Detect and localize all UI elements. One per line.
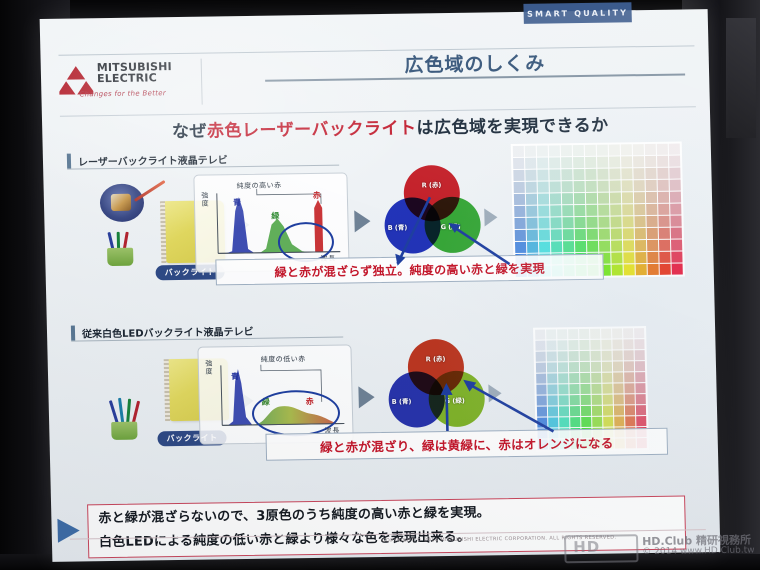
gamut-swatch	[601, 340, 611, 350]
gamut-swatch	[610, 204, 621, 215]
gamut-swatch	[573, 169, 584, 180]
gamut-swatch	[550, 181, 561, 192]
gamut-swatch	[514, 206, 525, 217]
gamut-swatch	[574, 193, 585, 204]
gamut-swatch	[646, 192, 657, 203]
gamut-swatch	[635, 252, 646, 263]
gamut-swatch	[614, 405, 624, 415]
venn-label-blue-laser: B (青)	[388, 222, 408, 232]
gamut-swatch	[614, 416, 624, 426]
gamut-swatch	[586, 205, 597, 216]
gamut-swatch	[550, 205, 561, 216]
gamut-swatch	[535, 341, 545, 351]
gamut-swatch	[586, 181, 597, 192]
gamut-swatch	[613, 372, 623, 382]
gamut-swatch	[670, 192, 681, 203]
gamut-swatch	[658, 204, 669, 215]
gamut-swatch	[612, 328, 622, 338]
gamut-swatch	[634, 339, 644, 349]
gamut-swatch	[550, 217, 561, 228]
gamut-swatch	[527, 242, 538, 253]
gamut-swatch	[624, 383, 634, 393]
gamut-swatch	[598, 217, 609, 228]
gamut-swatch	[591, 351, 601, 361]
gamut-swatch	[569, 384, 579, 394]
gamut-swatch	[646, 216, 657, 227]
gamut-swatch	[598, 205, 609, 216]
gamut-swatch	[546, 340, 556, 350]
gamut-swatch	[575, 229, 586, 240]
gamut-swatch	[599, 241, 610, 252]
gamut-swatch	[539, 229, 550, 240]
venn-label-blue-led: B (青)	[392, 396, 412, 406]
gamut-swatch	[574, 181, 585, 192]
gamut-swatch	[634, 180, 645, 191]
gamut-swatch	[562, 181, 573, 192]
gamut-swatch	[659, 240, 670, 251]
gamut-swatch	[539, 241, 550, 252]
gamut-swatch	[592, 406, 602, 416]
gamut-swatch	[591, 384, 601, 394]
gamut-swatch	[597, 157, 608, 168]
gamut-swatch	[569, 362, 579, 372]
gamut-swatch	[625, 405, 635, 415]
gamut-swatch	[585, 169, 596, 180]
gamut-swatch	[549, 145, 560, 156]
gamut-swatch	[561, 145, 572, 156]
gamut-swatch	[513, 146, 524, 157]
rgb-venn-led: R (赤) B (青) G (緑)	[387, 338, 485, 431]
gamut-swatch	[587, 241, 598, 252]
gamut-swatch	[526, 218, 537, 229]
gamut-swatch	[611, 252, 622, 263]
gamut-swatch	[645, 144, 656, 155]
gamut-swatch	[597, 145, 608, 156]
gamut-swatch	[613, 383, 623, 393]
flow-arrow-2	[354, 210, 371, 232]
gamut-swatch	[597, 169, 608, 180]
gamut-swatch	[569, 373, 579, 383]
gamut-swatch	[581, 406, 591, 416]
gamut-swatch	[580, 373, 590, 383]
gamut-swatch	[568, 340, 578, 350]
gamut-swatch	[574, 205, 585, 216]
gamut-swatch	[546, 329, 556, 339]
gamut-swatch	[526, 182, 537, 193]
gamut-swatch	[569, 351, 579, 361]
gamut-swatch	[658, 180, 669, 191]
gamut-swatch	[525, 146, 536, 157]
slide-subtitle: なぜ赤色レーザーバックライトは広色域を実現できるか	[130, 110, 651, 143]
gamut-swatch	[603, 406, 613, 416]
gamut-swatch	[525, 170, 536, 181]
gamut-swatch	[580, 384, 590, 394]
gamut-swatch	[557, 340, 567, 350]
subtitle-highlight: 赤色レーザーバックライト	[207, 118, 417, 141]
gamut-swatch	[535, 330, 545, 340]
gamut-swatch	[613, 350, 623, 360]
gamut-swatch	[634, 204, 645, 215]
gamut-swatch	[586, 217, 597, 228]
peak-label-green-laser: 緑	[271, 210, 279, 221]
gamut-swatch	[610, 192, 621, 203]
gamut-swatch	[525, 158, 536, 169]
gamut-swatch	[548, 417, 558, 427]
gamut-swatch	[586, 193, 597, 204]
gamut-swatch	[590, 329, 600, 339]
gamut-swatch	[570, 406, 580, 416]
gamut-swatch	[537, 157, 548, 168]
gamut-swatch	[671, 228, 682, 239]
gamut-swatch	[648, 264, 659, 275]
gamut-swatch	[581, 417, 591, 427]
gamut-swatch	[514, 194, 525, 205]
color-pencils-icon-led	[108, 393, 153, 440]
gamut-swatch	[611, 240, 622, 251]
hdclub-logo-icon: HD	[564, 534, 639, 563]
gamut-swatch	[645, 168, 656, 179]
gamut-swatch	[548, 395, 558, 405]
gamut-swatch	[549, 157, 560, 168]
page-title: 広色域のしくみ	[264, 45, 685, 81]
gamut-swatch	[625, 394, 635, 404]
gamut-swatch	[670, 204, 681, 215]
gamut-swatch	[602, 362, 612, 372]
gamut-swatch	[602, 351, 612, 361]
gamut-swatch	[636, 405, 646, 415]
gamut-swatch	[671, 240, 682, 251]
gamut-swatch	[580, 362, 590, 372]
gamut-swatch	[647, 252, 658, 263]
gamut-swatch	[526, 194, 537, 205]
gamut-swatch	[537, 396, 547, 406]
gamut-swatch	[562, 217, 573, 228]
gamut-swatch	[614, 394, 624, 404]
gamut-swatch	[562, 205, 573, 216]
gamut-swatch	[658, 192, 669, 203]
gamut-swatch	[585, 145, 596, 156]
smart-quality-banner: SMART QUALITY	[523, 2, 631, 24]
gamut-swatch	[558, 373, 568, 383]
gamut-swatch	[634, 328, 644, 338]
gamut-swatch	[551, 229, 562, 240]
gamut-swatch	[610, 180, 621, 191]
pencil-cup	[107, 248, 133, 266]
gamut-swatch	[538, 217, 549, 228]
spectrum-chart-led: 強度 純度の低い赤 青 緑 赤	[197, 344, 353, 444]
gamut-swatch	[646, 180, 657, 191]
gamut-swatch	[671, 252, 682, 263]
door-panel	[726, 18, 756, 138]
gamut-swatch	[657, 156, 668, 167]
gamut-swatch	[550, 193, 561, 204]
rgb-venn-laser: R (赤) B (青) G (緑)	[383, 165, 481, 258]
gamut-swatch	[635, 372, 645, 382]
gamut-swatch	[623, 252, 634, 263]
gamut-swatch	[536, 363, 546, 373]
gamut-swatch	[621, 144, 632, 155]
gamut-swatch	[585, 157, 596, 168]
gamut-swatch	[538, 181, 549, 192]
gamut-swatch	[636, 416, 646, 426]
gamut-swatch	[549, 169, 560, 180]
gamut-swatch	[547, 351, 557, 361]
gamut-swatch	[537, 169, 548, 180]
gamut-swatch	[514, 218, 525, 229]
gamut-swatch	[558, 384, 568, 394]
gamut-swatch	[574, 217, 585, 228]
gamut-swatch	[559, 395, 569, 405]
gamut-swatch	[561, 157, 572, 168]
gamut-swatch	[527, 230, 538, 241]
gamut-swatch	[514, 182, 525, 193]
gamut-swatch	[624, 361, 634, 371]
gamut-swatch	[634, 216, 645, 227]
gamut-swatch	[623, 228, 634, 239]
logo-wordmark: MITSUBISHI ELECTRIC	[97, 61, 173, 84]
gamut-swatch	[538, 193, 549, 204]
gamut-swatch	[573, 157, 584, 168]
gamut-swatch	[579, 340, 589, 350]
gamut-swatch	[573, 145, 584, 156]
gamut-swatch	[592, 395, 602, 405]
gamut-swatch	[659, 252, 670, 263]
gamut-swatch	[623, 240, 634, 251]
pencil-cup-led	[111, 422, 137, 440]
gamut-swatch	[561, 169, 572, 180]
gamut-swatch	[547, 384, 557, 394]
gamut-swatch	[635, 228, 646, 239]
gamut-swatch	[559, 417, 569, 427]
gamut-swatch	[672, 264, 683, 275]
gamut-swatch	[635, 350, 645, 360]
gamut-swatch	[570, 417, 580, 427]
gamut-swatch	[657, 144, 668, 155]
gamut-swatch	[563, 241, 574, 252]
gamut-swatch	[621, 168, 632, 179]
gamut-swatch	[513, 158, 524, 169]
gamut-swatch	[598, 181, 609, 192]
gamut-swatch	[621, 156, 632, 167]
gamut-swatch	[587, 229, 598, 240]
gamut-swatch	[602, 373, 612, 383]
gamut-swatch	[636, 264, 647, 275]
gamut-swatch	[646, 204, 657, 215]
gamut-swatch	[537, 418, 547, 428]
gamut-swatch	[624, 264, 635, 275]
gamut-swatch	[635, 383, 645, 393]
gamut-swatch	[557, 329, 567, 339]
projector-room-photo: SMART QUALITY MITSUBISHI ELECTRIC Change…	[0, 0, 760, 570]
gamut-swatch	[633, 168, 644, 179]
gamut-swatch	[670, 216, 681, 227]
gamut-swatch	[591, 373, 601, 383]
gamut-swatch	[513, 170, 524, 181]
peak-label-blue-laser: 青	[233, 197, 241, 208]
gamut-swatch	[592, 417, 602, 427]
gamut-swatch	[603, 417, 613, 427]
gamut-swatch	[613, 361, 623, 371]
subtitle-part-1: なぜ	[172, 122, 207, 143]
gamut-swatch	[580, 351, 590, 361]
gamut-swatch	[591, 362, 601, 372]
flow-arrow-6	[488, 384, 501, 402]
gamut-swatch	[625, 416, 635, 426]
gamut-swatch	[622, 216, 633, 227]
gamut-swatch	[558, 362, 568, 372]
peak-label-blue-led: 青	[231, 371, 239, 382]
gamut-swatch	[633, 144, 644, 155]
gamut-swatch	[609, 156, 620, 167]
gamut-swatch	[536, 385, 546, 395]
logo-tagline: Changes for the Better	[79, 89, 166, 98]
gamut-swatch	[515, 242, 526, 253]
projected-slide: SMART QUALITY MITSUBISHI ELECTRIC Change…	[40, 9, 721, 562]
gamut-swatch	[670, 180, 681, 191]
gamut-swatch	[609, 168, 620, 179]
gamut-swatch	[636, 394, 646, 404]
color-pencils-icon	[105, 232, 136, 266]
gamut-swatch	[657, 168, 668, 179]
gamut-swatch	[579, 329, 589, 339]
gamut-swatch	[612, 339, 622, 349]
gamut-swatch	[645, 156, 656, 167]
logo-line-2: ELECTRIC	[97, 71, 157, 85]
flow-arrow-5	[358, 386, 375, 408]
venn-label-red-led: R (赤)	[426, 353, 446, 363]
gamut-swatch	[634, 192, 645, 203]
gamut-swatch	[575, 241, 586, 252]
gamut-swatch	[622, 180, 633, 191]
gamut-swatch	[601, 329, 611, 339]
gamut-swatch	[669, 156, 680, 167]
gamut-swatch	[622, 192, 633, 203]
gamut-swatch	[611, 228, 622, 239]
gamut-swatch	[658, 216, 669, 227]
gamut-swatch	[570, 395, 580, 405]
gamut-swatch	[612, 264, 623, 275]
peak-label-red-laser: 赤	[313, 190, 321, 201]
panel-edge-led	[164, 359, 170, 421]
gamut-swatch	[602, 384, 612, 394]
gamut-swatch	[598, 193, 609, 204]
gamut-swatch	[647, 240, 658, 251]
gamut-swatch	[660, 264, 671, 275]
gamut-swatch	[590, 340, 600, 350]
gamut-swatch	[536, 352, 546, 362]
watermark-line-2: © 2014 www.HD.Club.tw	[642, 545, 754, 557]
gamut-swatch	[599, 229, 610, 240]
gamut-swatch	[562, 193, 573, 204]
callout-laser: 緑と赤が混ざらず独立。純度の高い赤と緑を実現	[215, 254, 604, 286]
gamut-swatch	[669, 168, 680, 179]
gamut-swatch	[669, 144, 680, 155]
gamut-swatch	[635, 240, 646, 251]
callout-led: 緑と赤が混ざり、緑は黄緑に、赤はオレンジになる	[265, 428, 668, 461]
gamut-swatch	[547, 373, 557, 383]
gamut-swatch	[548, 406, 558, 416]
gamut-swatch	[538, 205, 549, 216]
gamut-swatch	[635, 361, 645, 371]
gamut-swatch	[581, 395, 591, 405]
gamut-swatch	[623, 339, 633, 349]
gamut-swatch	[515, 230, 526, 241]
gamut-swatch	[623, 328, 633, 338]
gamut-swatch	[551, 241, 562, 252]
gamut-swatch	[633, 156, 644, 167]
gamut-swatch	[624, 372, 634, 382]
flow-arrow-3	[484, 208, 497, 226]
venn-label-green-led: G (緑)	[445, 395, 465, 405]
gamut-swatch	[537, 407, 547, 417]
gamut-swatch	[659, 228, 670, 239]
gamut-swatch	[558, 351, 568, 361]
venn-label-red-laser: R (赤)	[422, 179, 442, 189]
gamut-swatch	[547, 362, 557, 372]
gamut-swatch	[563, 229, 574, 240]
gamut-swatch	[624, 350, 634, 360]
gamut-swatch	[603, 395, 613, 405]
panel-edge	[160, 201, 166, 263]
laser-diode-icon	[100, 184, 145, 223]
gamut-swatch	[622, 204, 633, 215]
mitsubishi-logo: MITSUBISHI ELECTRIC Changes for the Bett…	[59, 59, 210, 109]
laser-chip-icon	[111, 194, 131, 211]
gamut-swatch	[526, 206, 537, 217]
gamut-swatch	[610, 216, 621, 227]
gamut-swatch	[559, 406, 569, 416]
gamut-swatch	[536, 374, 546, 384]
venn-label-green-laser: G (緑)	[440, 221, 460, 231]
hdclub-logo-text: HD	[573, 538, 600, 556]
gamut-swatch	[609, 144, 620, 155]
gamut-swatch	[647, 228, 658, 239]
gamut-swatch	[568, 329, 578, 339]
subtitle-part-2: は広色域を実現できるか	[416, 116, 609, 139]
gamut-swatch	[537, 146, 548, 157]
